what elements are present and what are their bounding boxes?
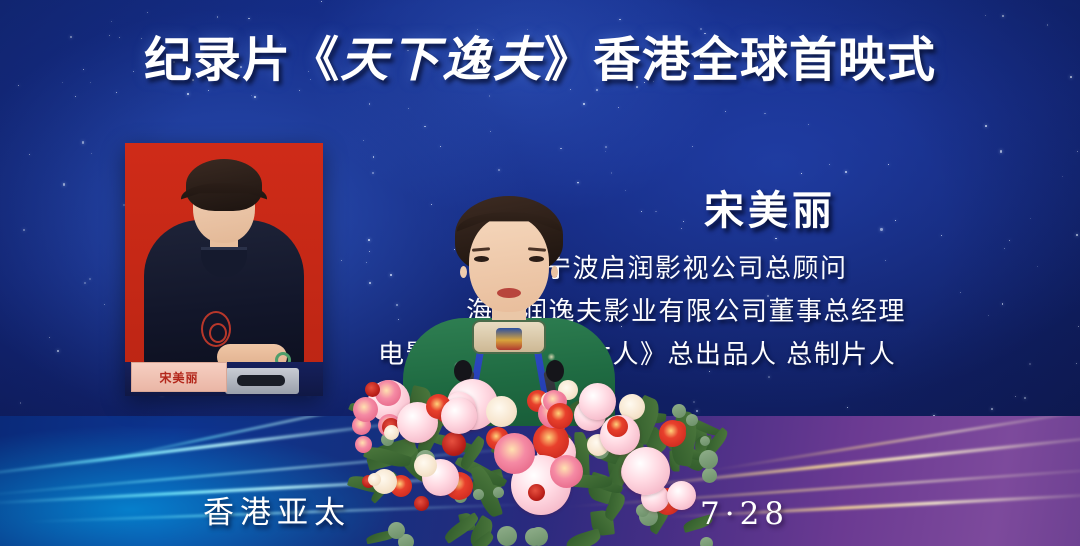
title-film-name: 天下逸夫	[340, 32, 544, 88]
speaker-ear-right	[551, 266, 558, 278]
caption-date: 7·28	[700, 496, 789, 532]
inset-nameplate-label: 宋美丽	[159, 369, 198, 386]
speaker-eye-right	[529, 256, 544, 262]
speaker-lips	[497, 288, 521, 298]
event-title: 纪录片《天下逸夫》香港全球首映式	[0, 20, 1080, 90]
inset-nameplate: 宋美丽	[131, 362, 227, 392]
bottom-caption: 香港亚太 7·28	[0, 486, 1080, 532]
inset-brooch-icon	[201, 311, 231, 347]
speaker-eye-left	[474, 256, 489, 262]
title-bracket-close: 》	[544, 34, 593, 87]
speaker-collar	[472, 320, 546, 354]
speaker-name: 宋美丽	[560, 178, 980, 236]
inset-microphone-icon	[225, 368, 299, 394]
title-prefix: 纪录片	[144, 34, 291, 87]
inset-portrait-card: 宋美丽	[125, 143, 323, 396]
event-broadcast-frame: 纪录片《天下逸夫》香港全球首映式 宋美丽 宋美丽 宁波启润影视公司总顾问 海众润…	[0, 0, 1080, 546]
caption-venue: 香港亚太	[203, 487, 351, 532]
title-suffix: 香港全球首映式	[593, 34, 936, 87]
title-bracket-open: 《	[291, 34, 340, 87]
speaker-ear-left	[460, 266, 467, 278]
